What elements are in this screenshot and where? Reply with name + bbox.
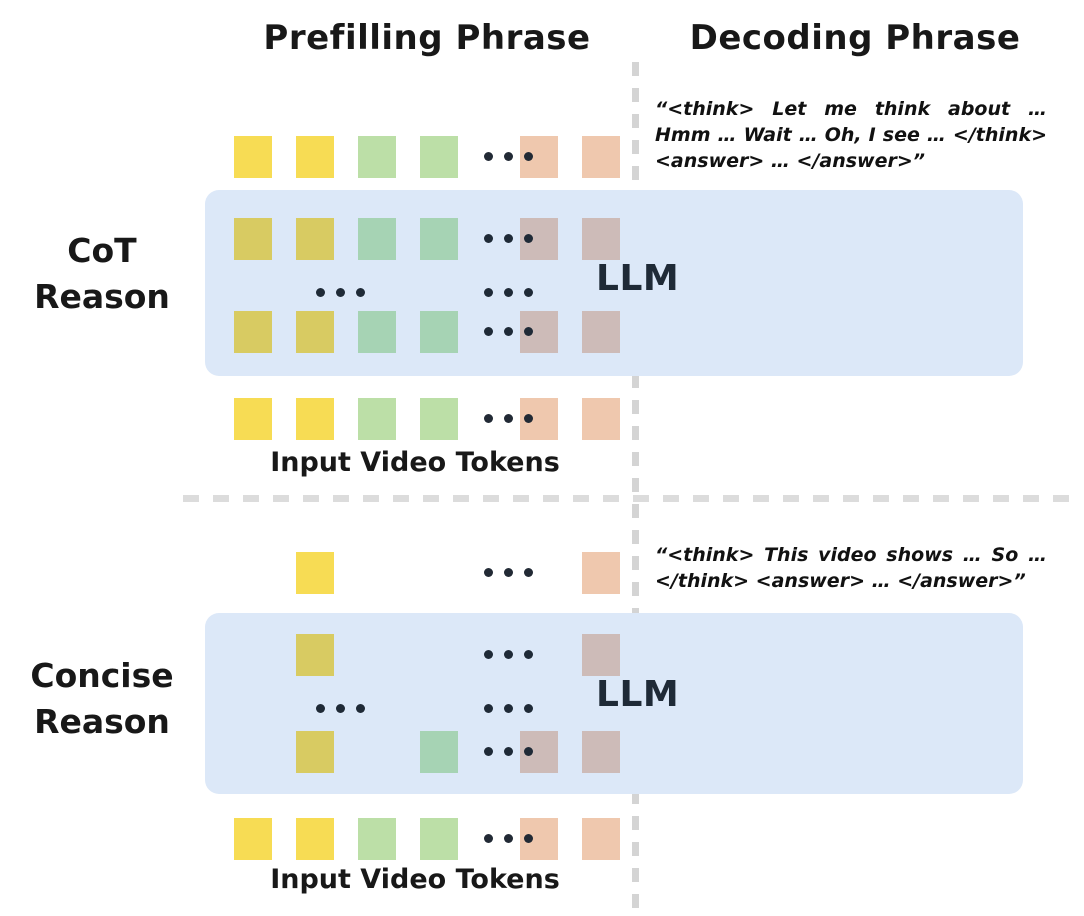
ellipsis-dot <box>524 650 533 659</box>
token-square-yellow <box>296 818 334 860</box>
section-label-cot: CoT Reason <box>2 228 202 320</box>
ellipsis-dot <box>524 152 533 161</box>
ellipsis-dot <box>504 650 513 659</box>
token-square-yellow <box>296 398 334 440</box>
ellipsis-dots <box>484 568 533 577</box>
ellipsis-dot <box>484 568 493 577</box>
ellipsis-dots <box>484 704 533 713</box>
ellipsis-dots <box>316 704 365 713</box>
section-label-concise: Concise Reason <box>2 653 202 745</box>
ellipsis-dot <box>484 152 493 161</box>
ellipsis-dots <box>316 288 365 297</box>
token-square-yellow <box>296 136 334 178</box>
token-square-yellow <box>296 552 334 594</box>
token-square-yellow <box>296 634 334 676</box>
ellipsis-dot <box>524 747 533 756</box>
ellipsis-dots <box>484 288 533 297</box>
ellipsis-dot <box>524 234 533 243</box>
ellipsis-dot <box>484 834 493 843</box>
input-video-tokens-caption-concise: Input Video Tokens <box>215 864 615 895</box>
ellipsis-dot <box>484 650 493 659</box>
ellipsis-dots <box>484 650 533 659</box>
token-square-yellow <box>234 218 272 260</box>
token-square-yellow <box>296 311 334 353</box>
ellipsis-dot <box>524 704 533 713</box>
ellipsis-dot <box>524 327 533 336</box>
ellipsis-dot <box>504 152 513 161</box>
decoding-output-text-cot: “<think> Let me think about … Hmm … Wait… <box>655 96 1047 174</box>
token-square-green <box>358 818 396 860</box>
ellipsis-dot <box>484 327 493 336</box>
token-square-green <box>358 218 396 260</box>
ellipsis-dot <box>336 704 345 713</box>
token-square-peach <box>582 731 620 773</box>
ellipsis-dot <box>484 704 493 713</box>
ellipsis-dot <box>316 288 325 297</box>
token-square-peach <box>582 818 620 860</box>
ellipsis-dot <box>504 234 513 243</box>
column-header-decoding: Decoding Phrase <box>660 18 1050 58</box>
token-square-green <box>358 136 396 178</box>
ellipsis-dots <box>484 327 533 336</box>
token-square-green <box>358 311 396 353</box>
llm-caption-cot: LLM <box>596 258 679 299</box>
ellipsis-dot <box>524 834 533 843</box>
llm-caption-concise: LLM <box>596 674 679 715</box>
token-square-yellow <box>234 818 272 860</box>
ellipsis-dot <box>504 834 513 843</box>
ellipsis-dot <box>356 704 365 713</box>
diagram-root: Prefilling Phrase Decoding Phrase CoT Re… <box>0 0 1084 916</box>
ellipsis-dot <box>504 568 513 577</box>
ellipsis-dots <box>484 747 533 756</box>
token-square-green <box>420 136 458 178</box>
ellipsis-dots <box>484 234 533 243</box>
token-square-yellow <box>296 218 334 260</box>
ellipsis-dot <box>524 414 533 423</box>
ellipsis-dot <box>524 568 533 577</box>
ellipsis-dots <box>484 152 533 161</box>
ellipsis-dot <box>504 747 513 756</box>
token-square-peach <box>582 552 620 594</box>
token-square-yellow <box>234 136 272 178</box>
ellipsis-dot <box>504 414 513 423</box>
column-header-prefilling: Prefilling Phrase <box>232 18 622 58</box>
token-square-green <box>358 398 396 440</box>
token-square-green <box>420 731 458 773</box>
ellipsis-dot <box>484 288 493 297</box>
horizontal-dashed-divider <box>183 495 1077 502</box>
ellipsis-dot <box>504 704 513 713</box>
decoding-output-text-concise: “<think> This video shows … So … </think… <box>655 542 1047 594</box>
token-square-peach <box>582 398 620 440</box>
token-square-yellow <box>296 731 334 773</box>
ellipsis-dot <box>504 327 513 336</box>
ellipsis-dots <box>484 414 533 423</box>
ellipsis-dot <box>504 288 513 297</box>
token-square-green <box>420 398 458 440</box>
ellipsis-dot <box>336 288 345 297</box>
token-square-peach <box>582 136 620 178</box>
token-square-yellow <box>234 311 272 353</box>
ellipsis-dot <box>484 414 493 423</box>
input-video-tokens-caption-cot: Input Video Tokens <box>215 447 615 478</box>
ellipsis-dot <box>316 704 325 713</box>
ellipsis-dot <box>356 288 365 297</box>
token-square-green <box>420 311 458 353</box>
token-square-green <box>420 218 458 260</box>
token-square-yellow <box>234 398 272 440</box>
token-square-peach <box>582 218 620 260</box>
ellipsis-dot <box>484 747 493 756</box>
token-square-peach <box>582 311 620 353</box>
token-square-peach <box>582 634 620 676</box>
ellipsis-dots <box>484 834 533 843</box>
token-square-green <box>420 818 458 860</box>
ellipsis-dot <box>524 288 533 297</box>
ellipsis-dot <box>484 234 493 243</box>
